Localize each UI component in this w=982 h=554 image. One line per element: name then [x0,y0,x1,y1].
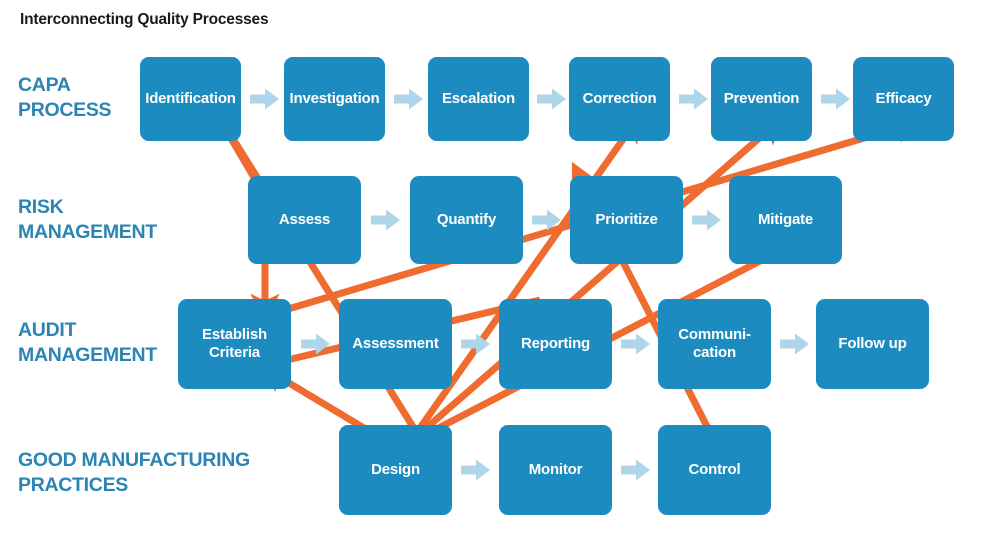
process-node[interactable]: Monitor [499,425,612,515]
flow-arrow-icon [621,333,651,360]
row-label-risk: RISK MANAGEMENT [18,195,157,245]
flow-arrow-icon [692,209,722,236]
process-node[interactable]: Prioritize [570,176,683,264]
flow-arrow-icon [679,88,709,115]
process-node[interactable]: Establish Criteria [178,299,291,389]
flow-arrow-icon [461,333,491,360]
process-node[interactable]: Follow up [816,299,929,389]
flow-arrow-icon [461,459,491,486]
process-node[interactable]: Mitigate [729,176,842,264]
flow-arrow-icon [780,333,810,360]
diagram-canvas: Interconnecting Quality Processes CAPA P… [0,0,982,554]
process-node[interactable]: Reporting [499,299,612,389]
flow-arrow-icon [371,209,401,236]
process-node[interactable]: Prevention [711,57,812,141]
flow-arrow-icon [532,209,562,236]
flow-arrow-icon [250,88,280,115]
flow-arrow-icon [537,88,567,115]
flow-arrow-icon [301,333,331,360]
row-label-audit: AUDIT MANAGEMENT [18,318,157,368]
process-node[interactable]: Control [658,425,771,515]
process-node[interactable]: Correction [569,57,670,141]
flow-arrow-icon [821,88,851,115]
page-title: Interconnecting Quality Processes [20,11,268,29]
process-node[interactable]: Escalation [428,57,529,141]
flow-arrow-icon [621,459,651,486]
process-node[interactable]: Assessment [339,299,452,389]
process-node[interactable]: Quantify [410,176,523,264]
process-node[interactable]: Identification [140,57,241,141]
row-label-capa: CAPA PROCESS [18,73,111,123]
process-node[interactable]: Design [339,425,452,515]
process-node[interactable]: Communi- cation [658,299,771,389]
process-node[interactable]: Assess [248,176,361,264]
flow-arrow-icon [394,88,424,115]
row-label-gmp: GOOD MANUFACTURING PRACTICES [18,448,250,498]
process-node[interactable]: Efficacy [853,57,954,141]
process-node[interactable]: Investigation [284,57,385,141]
